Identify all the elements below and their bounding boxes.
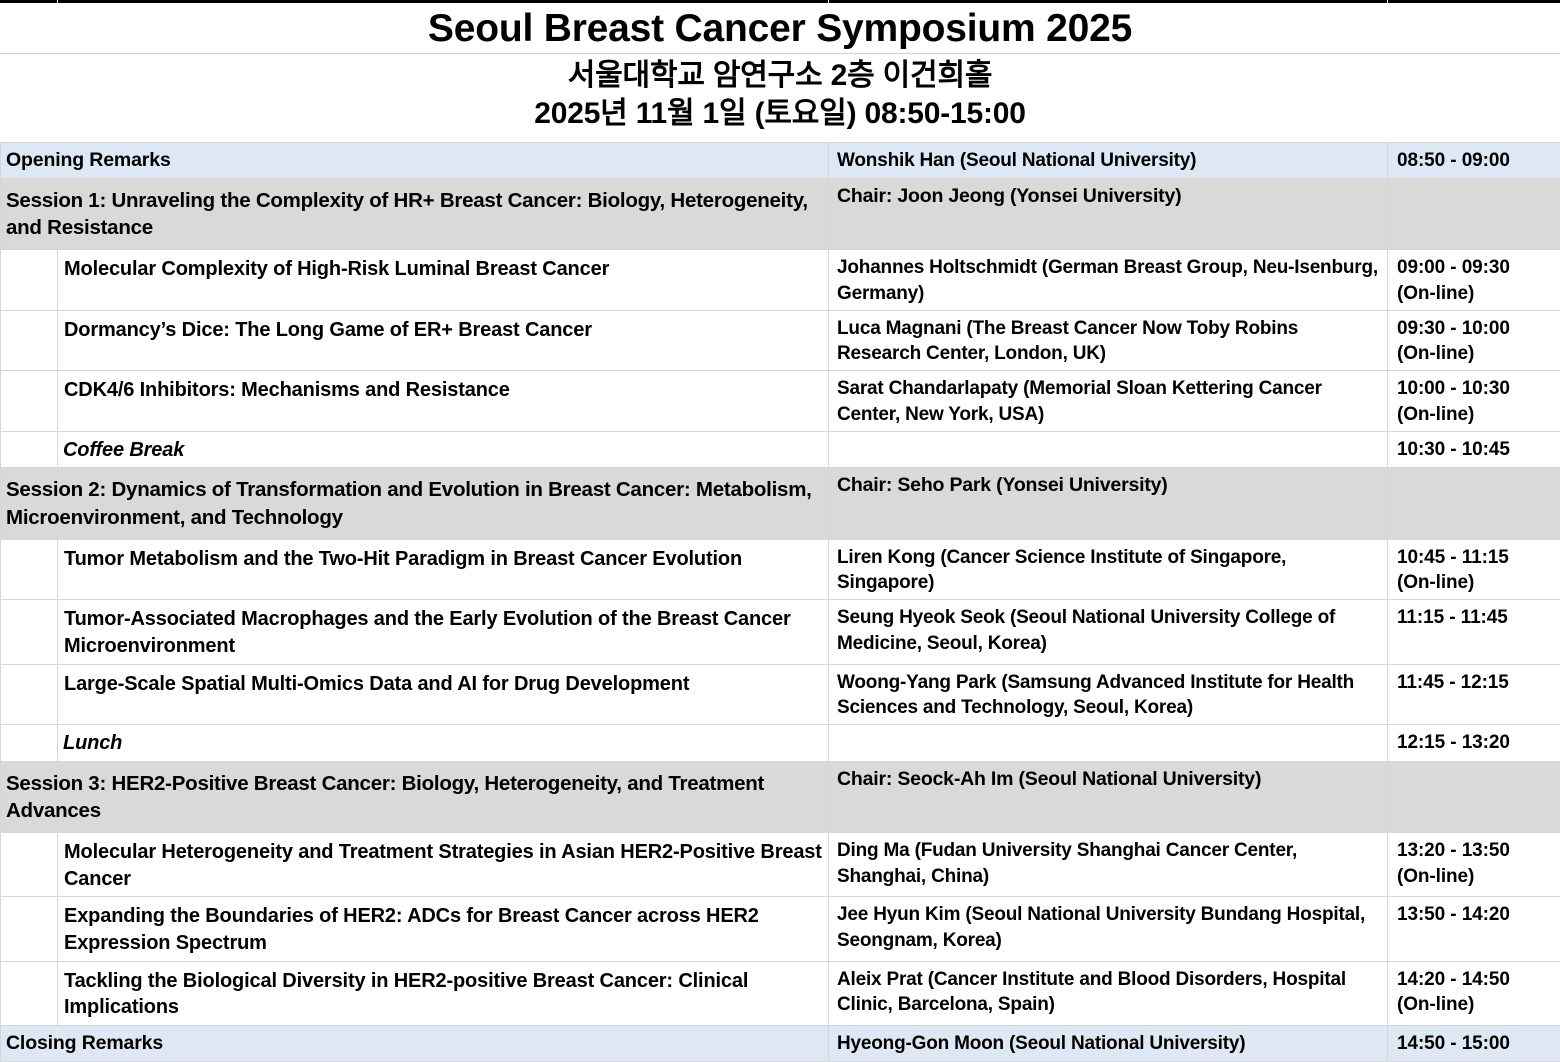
row-speaker-text: Jee Hyun Kim (Seoul National University …: [829, 897, 1387, 957]
row-indent-cell: [1, 897, 58, 961]
schedule-row-talk: Molecular Heterogeneity and Treatment St…: [1, 833, 1560, 897]
row-title-text: CDK4/6 Inhibitors: Mechanisms and Resist…: [58, 371, 828, 408]
top-frame-rule: [0, 0, 1560, 3]
time-online-note: (On-line): [1397, 992, 1554, 1017]
row-title-cell: Tumor Metabolism and the Two-Hit Paradig…: [58, 539, 829, 600]
row-speaker-cell: Johannes Holtschmidt (German Breast Grou…: [829, 250, 1388, 311]
row-speaker-text: [829, 725, 1387, 734]
row-time-cell: 14:50 - 15:00: [1388, 1025, 1560, 1061]
row-speaker-cell: Hyeong-Gon Moon (Seoul National Universi…: [829, 1025, 1388, 1061]
row-time-text: 10:00 - 10:30(On-line): [1388, 371, 1560, 431]
row-indent-cell: [1, 664, 58, 725]
row-indent-cell: [1, 725, 58, 762]
row-speaker-text: Seung Hyeok Seok (Seoul National Univers…: [829, 600, 1387, 660]
row-title-text: Lunch: [58, 725, 828, 761]
row-time-cell: 09:00 - 09:30(On-line): [1388, 250, 1560, 311]
row-indent-cell: [1, 833, 58, 897]
row-title-text: Session 1: Unraveling the Complexity of …: [1, 179, 828, 250]
title-block: Seoul Breast Cancer Symposium 2025 서울대학교…: [0, 0, 1560, 142]
row-title-text: Session 3: HER2-Positive Breast Cancer: …: [1, 762, 828, 833]
row-time-text: 10:45 - 11:15(On-line): [1388, 540, 1560, 600]
row-title-cell: Molecular Heterogeneity and Treatment St…: [58, 833, 829, 897]
row-title-cell: Tackling the Biological Diversity in HER…: [58, 961, 829, 1025]
row-speaker-text: Wonshik Han (Seoul National University): [829, 143, 1387, 177]
row-title-cell: Session 3: HER2-Positive Breast Cancer: …: [1, 761, 829, 833]
row-indent-cell: [1, 310, 58, 371]
row-title-cell: Session 2: Dynamics of Transformation an…: [1, 468, 829, 540]
row-speaker-text: Aleix Prat (Cancer Institute and Blood D…: [829, 962, 1387, 1022]
time-online-note: (On-line): [1397, 570, 1554, 595]
row-title-text: Large-Scale Spatial Multi-Omics Data and…: [58, 665, 828, 702]
row-time-cell: 14:20 - 14:50(On-line): [1388, 961, 1560, 1025]
row-title-text: Opening Remarks: [1, 143, 828, 178]
row-speaker-cell: [829, 431, 1388, 468]
row-speaker-text: Chair: Seho Park (Yonsei University): [829, 468, 1387, 503]
row-speaker-text: Chair: Joon Jeong (Yonsei University): [829, 179, 1387, 214]
row-title-cell: Lunch: [58, 725, 829, 762]
page-title: Seoul Breast Cancer Symposium 2025: [0, 6, 1560, 53]
row-title-cell: Tumor-Associated Macrophages and the Ear…: [58, 600, 829, 664]
row-time-text: 13:20 - 13:50(On-line): [1388, 833, 1560, 893]
row-speaker-cell: Ding Ma (Fudan University Shanghai Cance…: [829, 833, 1388, 897]
row-title-text: Session 2: Dynamics of Transformation an…: [1, 468, 828, 539]
time-range: 09:30 - 10:00: [1397, 316, 1554, 341]
row-speaker-text: [829, 432, 1387, 441]
row-time-cell: [1388, 178, 1560, 250]
row-speaker-text: Ding Ma (Fudan University Shanghai Cance…: [829, 833, 1387, 893]
row-time-text: 08:50 - 09:00: [1388, 143, 1560, 177]
row-title-cell: Expanding the Boundaries of HER2: ADCs f…: [58, 897, 829, 961]
row-speaker-text: Chair: Seock-Ah Im (Seoul National Unive…: [829, 762, 1387, 797]
schedule-row-talk: Tumor Metabolism and the Two-Hit Paradig…: [1, 539, 1560, 600]
time-online-note: (On-line): [1397, 864, 1554, 889]
row-time-cell: 12:15 - 13:20: [1388, 725, 1560, 762]
row-indent-cell: [1, 431, 58, 468]
row-speaker-text: Hyeong-Gon Moon (Seoul National Universi…: [829, 1026, 1387, 1060]
row-title-text: Tackling the Biological Diversity in HER…: [58, 962, 828, 1025]
row-speaker-cell: Chair: Joon Jeong (Yonsei University): [829, 178, 1388, 250]
row-indent-cell: [1, 600, 58, 664]
row-time-cell: 09:30 - 10:00(On-line): [1388, 310, 1560, 371]
row-time-cell: 13:20 - 13:50(On-line): [1388, 833, 1560, 897]
row-speaker-cell: Jee Hyun Kim (Seoul National University …: [829, 897, 1388, 961]
row-speaker-cell: [829, 725, 1388, 762]
row-indent-cell: [1, 250, 58, 311]
venue-line: 서울대학교 암연구소 2층 이건희홀: [0, 57, 1560, 95]
schedule-row-talk: Molecular Complexity of High-Risk Lumina…: [1, 250, 1560, 311]
row-time-text: 14:20 - 14:50(On-line): [1388, 962, 1560, 1022]
row-time-text: [1388, 762, 1560, 771]
time-range: 10:45 - 11:15: [1397, 545, 1554, 570]
row-time-text: 11:15 - 11:45: [1388, 600, 1560, 634]
time-range: 14:20 - 14:50: [1397, 967, 1554, 992]
schedule-row-session: Session 2: Dynamics of Transformation an…: [1, 468, 1560, 540]
row-time-cell: [1388, 761, 1560, 833]
schedule-row-talk: Tackling the Biological Diversity in HER…: [1, 961, 1560, 1025]
row-speaker-cell: Chair: Seock-Ah Im (Seoul National Unive…: [829, 761, 1388, 833]
row-indent-cell: [1, 539, 58, 600]
time-range: 10:00 - 10:30: [1397, 376, 1554, 401]
row-time-cell: [1388, 468, 1560, 540]
row-time-cell: 08:50 - 09:00: [1388, 142, 1560, 178]
schedule-row-talk: Large-Scale Spatial Multi-Omics Data and…: [1, 664, 1560, 725]
schedule-row-session: Session 3: HER2-Positive Breast Cancer: …: [1, 761, 1560, 833]
schedule-table: Opening RemarksWonshik Han (Seoul Nation…: [0, 142, 1560, 1062]
row-title-cell: Session 1: Unraveling the Complexity of …: [1, 178, 829, 250]
row-title-text: Tumor-Associated Macrophages and the Ear…: [58, 600, 828, 663]
time-online-note: (On-line): [1397, 402, 1554, 427]
row-speaker-cell: Chair: Seho Park (Yonsei University): [829, 468, 1388, 540]
row-speaker-text: Johannes Holtschmidt (German Breast Grou…: [829, 250, 1387, 310]
row-title-cell: Molecular Complexity of High-Risk Lumina…: [58, 250, 829, 311]
time-online-note: (On-line): [1397, 341, 1554, 366]
row-time-cell: 10:45 - 11:15(On-line): [1388, 539, 1560, 600]
row-speaker-text: Liren Kong (Cancer Science Institute of …: [829, 540, 1387, 600]
time-online-note: (On-line): [1397, 281, 1554, 306]
row-title-text: Coffee Break: [58, 432, 828, 468]
schedule-row-break: Coffee Break10:30 - 10:45: [1, 431, 1560, 468]
row-time-cell: 11:45 - 12:15: [1388, 664, 1560, 725]
row-time-text: 09:30 - 10:00(On-line): [1388, 311, 1560, 371]
row-indent-cell: [1, 371, 58, 432]
schedule-row-break: Lunch12:15 - 13:20: [1, 725, 1560, 762]
row-title-cell: CDK4/6 Inhibitors: Mechanisms and Resist…: [58, 371, 829, 432]
row-time-text: 12:15 - 13:20: [1388, 725, 1560, 759]
schedule-row-talk: Tumor-Associated Macrophages and the Ear…: [1, 600, 1560, 664]
row-speaker-cell: Aleix Prat (Cancer Institute and Blood D…: [829, 961, 1388, 1025]
time-range: 13:20 - 13:50: [1397, 838, 1554, 863]
row-speaker-text: Woong-Yang Park (Samsung Advanced Instit…: [829, 665, 1387, 725]
schedule-row-remark: Closing RemarksHyeong-Gon Moon (Seoul Na…: [1, 1025, 1560, 1061]
schedule-row-talk: CDK4/6 Inhibitors: Mechanisms and Resist…: [1, 371, 1560, 432]
row-title-text: Closing Remarks: [1, 1026, 828, 1061]
row-title-text: Tumor Metabolism and the Two-Hit Paradig…: [58, 540, 828, 577]
row-title-cell: Coffee Break: [58, 431, 829, 468]
row-speaker-cell: Sarat Chandarlapaty (Memorial Sloan Kett…: [829, 371, 1388, 432]
row-title-cell: Opening Remarks: [1, 142, 829, 178]
row-time-text: 11:45 - 12:15: [1388, 665, 1560, 699]
row-title-cell: Large-Scale Spatial Multi-Omics Data and…: [58, 664, 829, 725]
row-indent-cell: [1, 961, 58, 1025]
row-speaker-cell: Luca Magnani (The Breast Cancer Now Toby…: [829, 310, 1388, 371]
row-title-cell: Closing Remarks: [1, 1025, 829, 1061]
row-title-text: Expanding the Boundaries of HER2: ADCs f…: [58, 897, 828, 960]
row-speaker-cell: Seung Hyeok Seok (Seoul National Univers…: [829, 600, 1388, 664]
row-time-text: [1388, 179, 1560, 188]
row-title-text: Molecular Complexity of High-Risk Lumina…: [58, 250, 828, 287]
row-time-text: [1388, 468, 1560, 477]
datetime-line: 2025년 11월 1일 (토요일) 08:50-15:00: [0, 95, 1560, 133]
row-time-text: 10:30 - 10:45: [1388, 432, 1560, 466]
row-time-text: 14:50 - 15:00: [1388, 1026, 1560, 1060]
row-speaker-cell: Woong-Yang Park (Samsung Advanced Instit…: [829, 664, 1388, 725]
row-time-cell: 11:15 - 11:45: [1388, 600, 1560, 664]
schedule-row-session: Session 1: Unraveling the Complexity of …: [1, 178, 1560, 250]
row-title-cell: Dormancy’s Dice: The Long Game of ER+ Br…: [58, 310, 829, 371]
row-time-cell: 13:50 - 14:20: [1388, 897, 1560, 961]
row-speaker-cell: Wonshik Han (Seoul National University): [829, 142, 1388, 178]
schedule-row-talk: Expanding the Boundaries of HER2: ADCs f…: [1, 897, 1560, 961]
row-time-cell: 10:30 - 10:45: [1388, 431, 1560, 468]
row-time-text: 13:50 - 14:20: [1388, 897, 1560, 931]
time-range: 09:00 - 09:30: [1397, 255, 1554, 280]
schedule-row-remark: Opening RemarksWonshik Han (Seoul Nation…: [1, 142, 1560, 178]
row-title-text: Molecular Heterogeneity and Treatment St…: [58, 833, 828, 896]
schedule-row-talk: Dormancy’s Dice: The Long Game of ER+ Br…: [1, 310, 1560, 371]
row-time-cell: 10:00 - 10:30(On-line): [1388, 371, 1560, 432]
row-speaker-cell: Liren Kong (Cancer Science Institute of …: [829, 539, 1388, 600]
row-title-text: Dormancy’s Dice: The Long Game of ER+ Br…: [58, 311, 828, 348]
row-speaker-text: Luca Magnani (The Breast Cancer Now Toby…: [829, 311, 1387, 371]
row-speaker-text: Sarat Chandarlapaty (Memorial Sloan Kett…: [829, 371, 1387, 431]
row-time-text: 09:00 - 09:30(On-line): [1388, 250, 1560, 310]
